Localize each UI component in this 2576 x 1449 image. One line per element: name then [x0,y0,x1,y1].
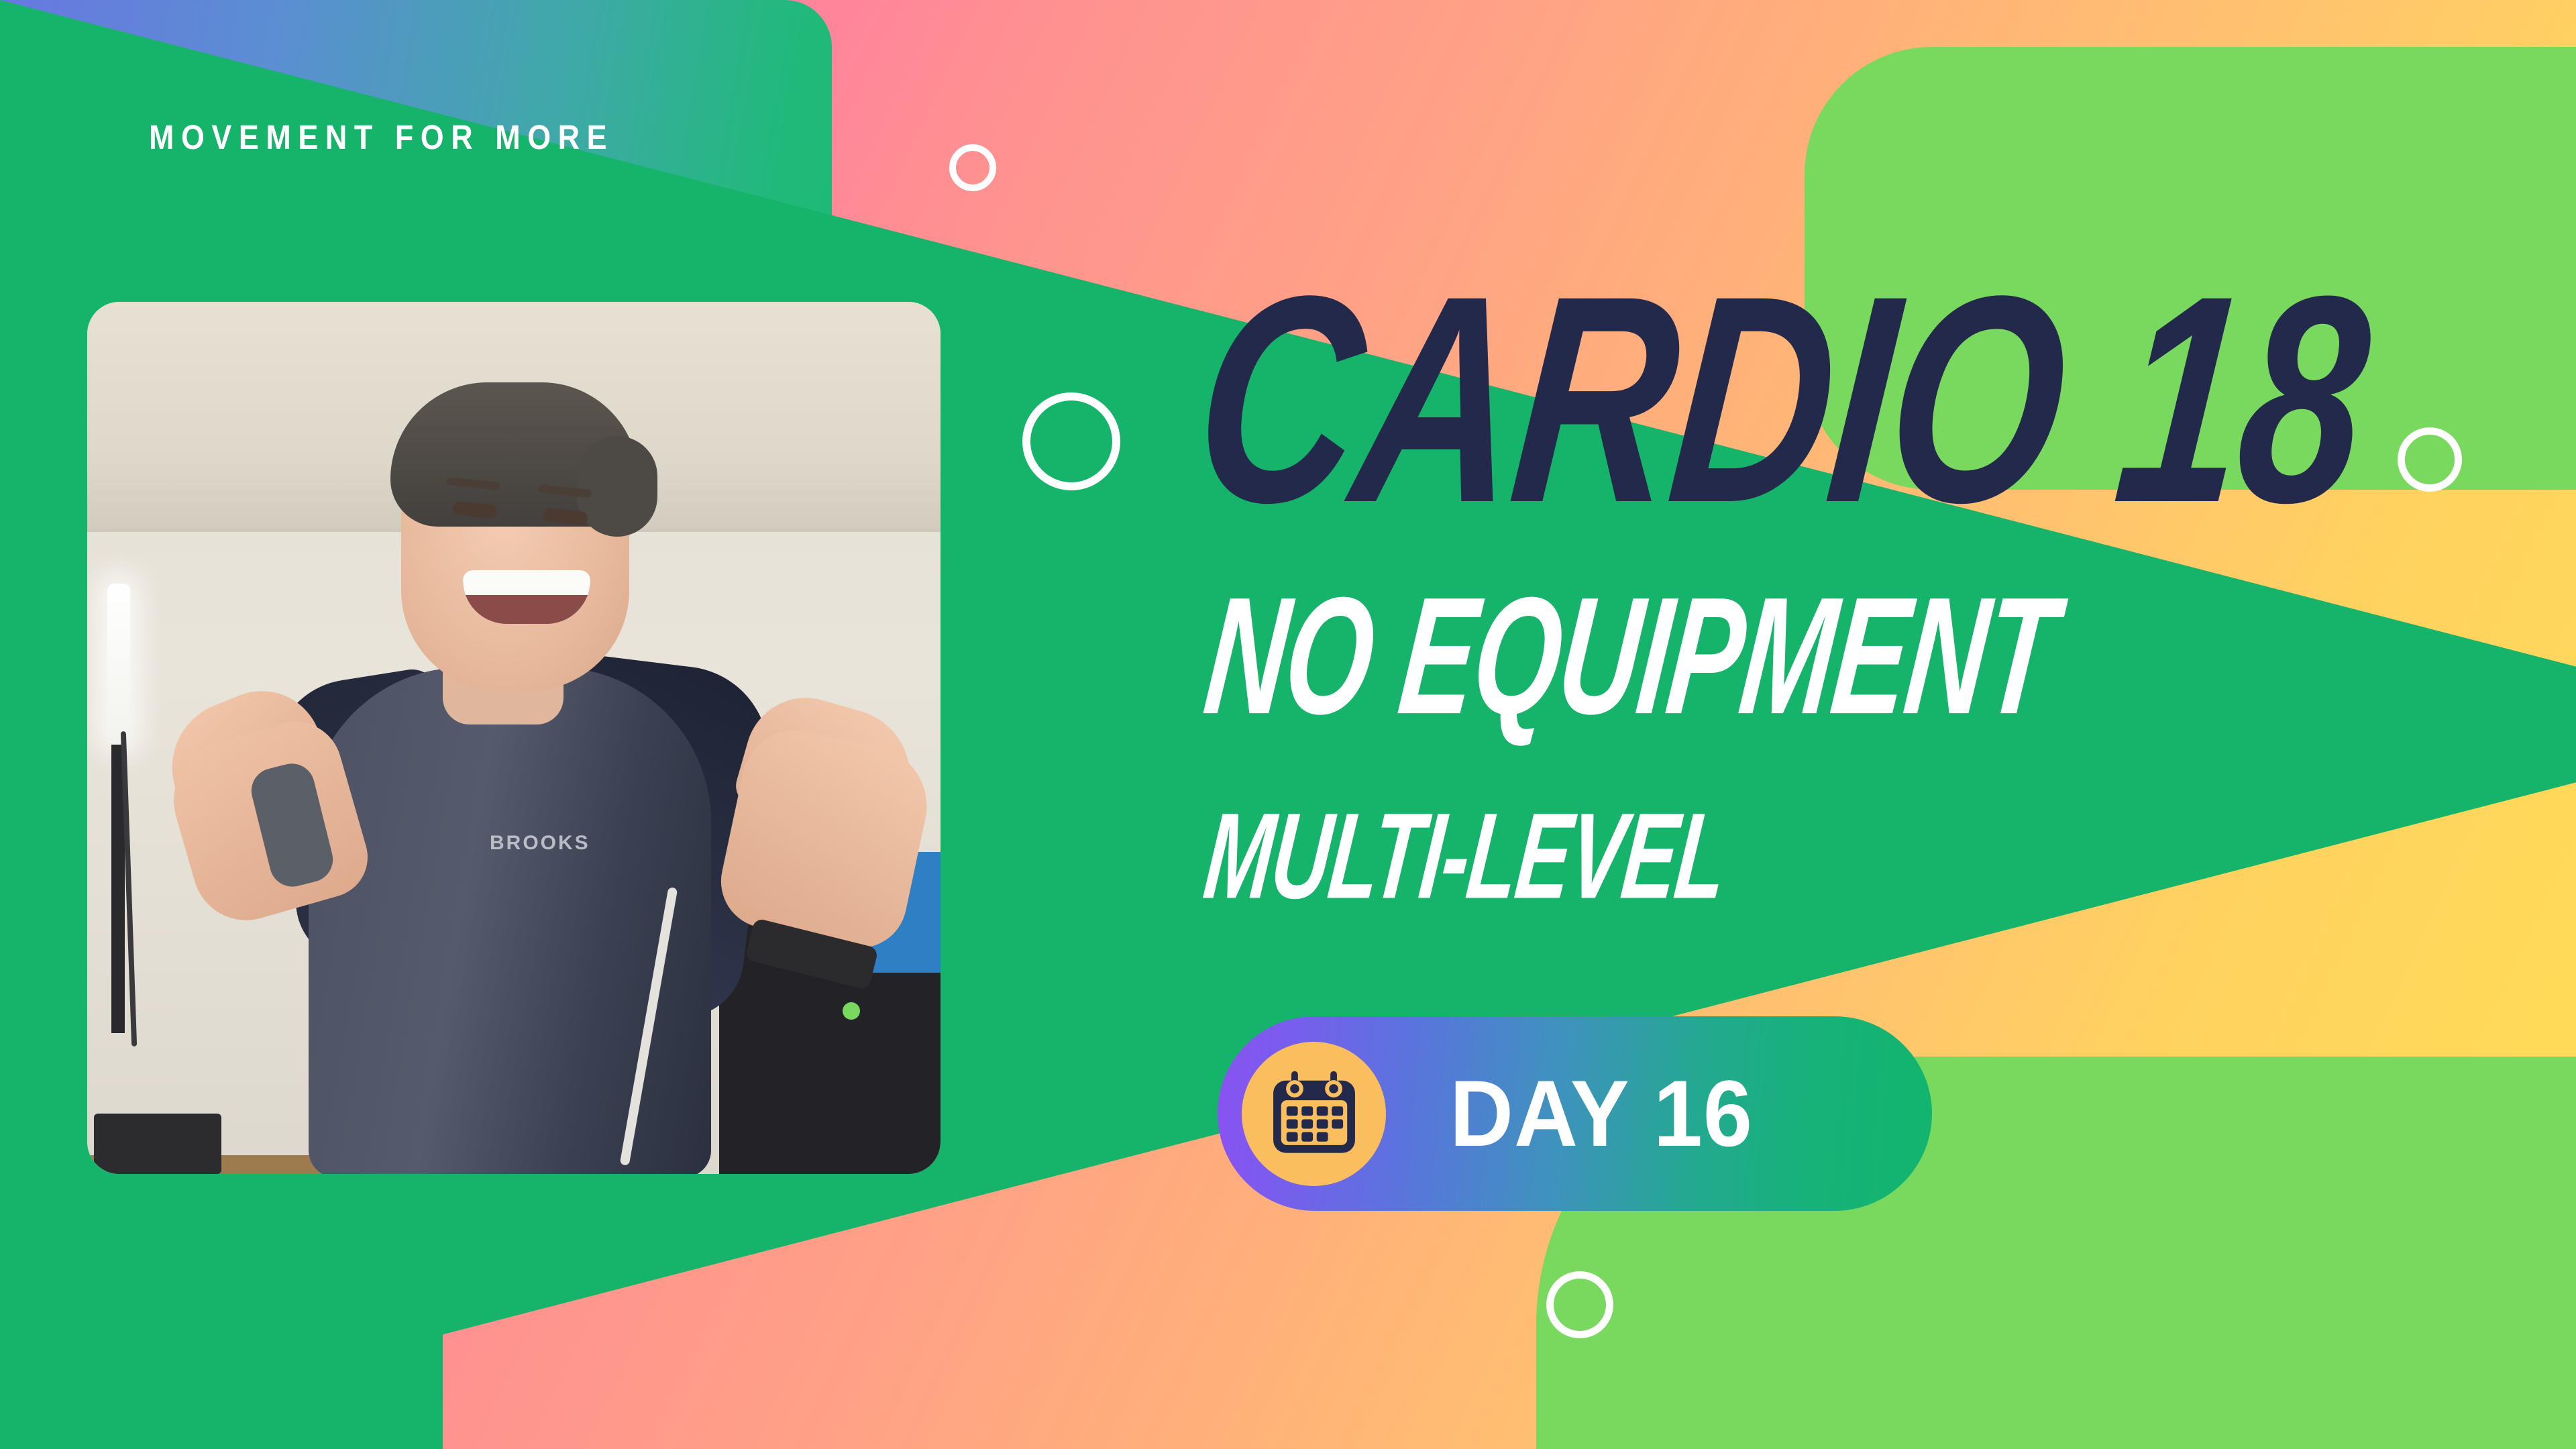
ring-right-icon [2398,427,2462,492]
instructor-photo: BROOKS [87,302,941,1174]
photo-teeth [463,570,590,595]
day-badge-label: DAY 16 [1450,1059,1753,1168]
ring-bottom-icon [1546,1271,1613,1338]
photo-lamp [107,584,130,745]
photo-hair-bun [577,436,657,537]
subtitle-multi-level: MULTI-LEVEL [1201,808,1730,906]
photo-torso [309,667,711,1174]
arrow-tip [2522,684,2576,765]
day-badge[interactable]: DAY 16 [1218,1016,1932,1211]
page-title: CARDIO 18 [1189,282,2373,517]
photo-shirt-brand: BROOKS [490,832,604,856]
ring-large-left-icon [1022,392,1120,490]
ring-small-top-icon [949,144,996,191]
calendar-icon [1242,1042,1386,1186]
brand-eyebrow: MOVEMENT FOR MORE [149,117,614,157]
photo-smile [463,570,590,624]
poster-canvas: BROOKS MOVEMENT FOR MORE CARDIO 18 NO EQ… [0,0,2576,1449]
photo-floor-equipment [94,1114,221,1174]
subtitle-no-equipment: NO EQUIPMENT [1200,590,2060,724]
photo-green-light [843,1002,860,1020]
